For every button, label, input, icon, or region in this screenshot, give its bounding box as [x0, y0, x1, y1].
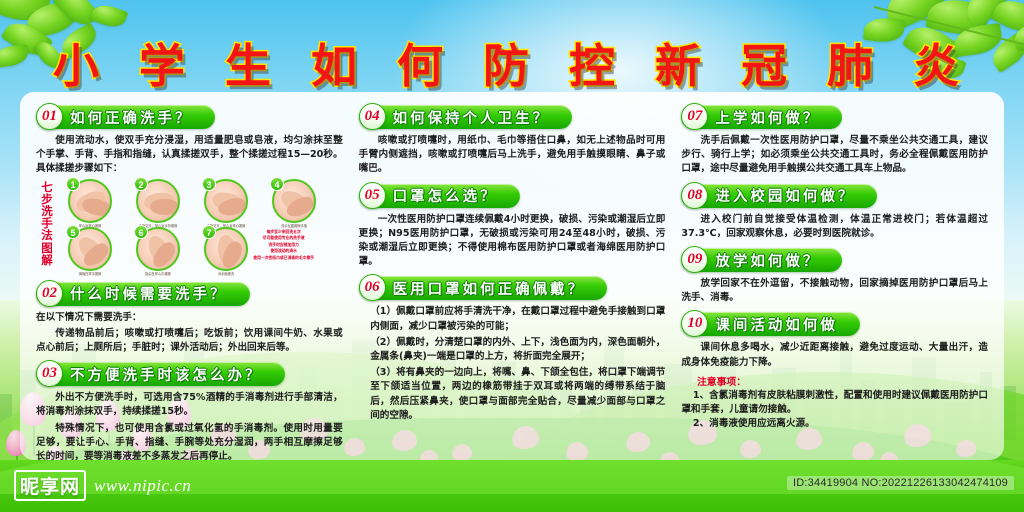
content-panel: 如何正确洗手？01使用流动水，使双手充分浸湿，用适量肥皂或皂液，均匀涂抹至整个手… — [20, 92, 1004, 460]
handwash-step-5: 5拇指在掌中搓擦 — [58, 227, 122, 275]
section-paragraph: 进入校门前自觉接受体温检测，体温正常进校门；若体温超过37.3℃，回家观察休息，… — [681, 213, 988, 241]
section-paragraph: 洗手后佩戴一次性医用防护口罩，尽量不乘坐公共交通工具，建议步行、骑行上学；如必须… — [681, 134, 988, 177]
handwash-step-6: 6指尖在掌心中搓擦 — [126, 227, 190, 275]
hand-shape — [150, 198, 178, 214]
section-heading-text: 什么时候需要洗手？ — [70, 283, 228, 304]
handwash-step-number: 5 — [66, 225, 80, 239]
notice-item: 1、含氯消毒剂有皮肤粘膜刺激性，配置和使用时建议佩戴医用防护口罩和手套，儿童请勿… — [681, 389, 988, 417]
section-pill: 医用口罩如何正确佩戴？ — [359, 276, 608, 300]
section-paragraph: 外出不方便洗手时，可选用含75%酒精的手消毒剂进行手部清洁，将消毒剂涂抹双手，持… — [36, 391, 343, 419]
section-heading-text: 进入校园如何做？ — [715, 185, 855, 206]
section-paragraph: 在以下情况下需要洗手： — [36, 311, 343, 325]
handwash-diagram-label: 七步洗手法图解 — [36, 179, 58, 275]
section-paragraph: 咳嗽或打喷嚏时，用纸巾、毛巾等捂住口鼻，如无上述物品时可用手臂内侧遮挡，咳嗽或打… — [359, 134, 666, 177]
section-heading-text: 如何正确洗手？ — [70, 107, 193, 128]
handwash-steps-grid: 1掌心对掌心搓擦2手指交叉，掌心对手背搓擦3手指交叉，掌心对掌心搓擦4双手互握搓… — [58, 179, 343, 275]
section-pill: 什么时候需要洗手？ — [36, 282, 250, 306]
brand: 昵享网 www.nipic.cn — [14, 470, 191, 501]
section-header-01[interactable]: 如何正确洗手？01 — [36, 104, 343, 130]
content-column-3: 上学如何做？07洗手后佩戴一次性医用防护口罩，尽量不乘坐公共交通工具，建议步行、… — [673, 98, 996, 460]
section-header-03[interactable]: 不方便洗手时该怎么办？03 — [36, 361, 343, 387]
section-paragraph: 使用流动水，使双手充分浸湿，用适量肥皂或皂液，均匀涂抹至整个手掌、手背、手指和指… — [36, 134, 343, 177]
section-number-badge: 08 — [681, 182, 708, 209]
handwash-step-2: 2手指交叉，掌心对手背搓擦 — [126, 179, 190, 227]
section-pill: 课间活动如何做 — [681, 312, 860, 336]
content-column-2: 如何保持个人卫生？04咳嗽或打喷嚏时，用纸巾、毛巾等捂住口鼻，如无上述物品时可用… — [351, 98, 674, 460]
handwash-step-caption: 对手腕搓洗 — [196, 272, 257, 276]
section-header-02[interactable]: 什么时候需要洗手？02 — [36, 281, 343, 307]
section-number-badge: 04 — [359, 103, 386, 130]
handwash-step-caption: 拇指在掌中搓擦 — [60, 272, 121, 276]
notice-title: 注意事项： — [681, 374, 988, 388]
section-pill: 进入校园如何做？ — [681, 184, 877, 208]
section-heading-text: 口罩怎么选？ — [393, 185, 498, 206]
section-paragraph: （2）佩戴时，分清楚口罩的内外、上下，浅色面为内，深色面朝外，金属条(鼻夹)一端… — [359, 336, 666, 364]
brand-url: www.nipic.cn — [94, 476, 191, 496]
section-pill: 不方便洗手时该怎么办？ — [36, 362, 285, 386]
handwash-step-number: 1 — [66, 177, 80, 191]
section-header-10[interactable]: 课间活动如何做10 — [681, 311, 988, 337]
brand-logo: 昵享网 — [14, 470, 86, 501]
handwash-note-line: 使用流动的清水 — [225, 248, 343, 255]
handwash-step-number: 3 — [202, 177, 216, 191]
section-heading-text: 放学如何做？ — [715, 250, 820, 271]
handwash-step-number: 2 — [134, 177, 148, 191]
section-paragraph: 一次性医用防护口罩连续佩戴4小时更换，破损、污染或潮湿后立即更换；N95医用防护… — [359, 213, 666, 270]
section-header-06[interactable]: 医用口罩如何正确佩戴？06 — [359, 275, 666, 301]
section-number-badge: 02 — [36, 280, 63, 307]
handwash-row: 1掌心对掌心搓擦2手指交叉，掌心对手背搓擦3手指交叉，掌心对掌心搓擦4双手互握搓… — [58, 179, 343, 227]
content-columns: 如何正确洗手？01使用流动水，使双手充分浸湿，用适量肥皂或皂液，均匀涂抹至整个手… — [20, 92, 1004, 460]
handwash-note-line: 尽可能使用专业的洗手液 — [225, 235, 343, 242]
section-header-04[interactable]: 如何保持个人卫生？04 — [359, 104, 666, 130]
section-paragraph: 课间休息多喝水，减少近距离接触，避免过度运动、大量出汗，造成身体免疫能力下降。 — [681, 341, 988, 369]
section-number-badge: 05 — [359, 182, 386, 209]
section-heading-text: 上学如何做？ — [715, 107, 820, 128]
section-pill: 如何保持个人卫生？ — [359, 105, 573, 129]
section-number-badge: 01 — [36, 103, 63, 130]
hand-shape — [80, 195, 111, 217]
section-heading-text: 课间活动如何做 — [715, 314, 838, 335]
poster-canvas: 小 学 生 如 何 防 控 新 冠 肺 炎 如何正确洗手？01使用流动水，使双手… — [0, 0, 1024, 512]
section-header-05[interactable]: 口罩怎么选？05 — [359, 183, 666, 209]
section-heading-text: 医用口罩如何正确佩戴？ — [393, 278, 586, 299]
section-heading-text: 不方便洗手时该怎么办？ — [70, 364, 263, 385]
handwash-step-caption: 指尖在掌心中搓擦 — [128, 272, 189, 276]
section-header-07[interactable]: 上学如何做？07 — [681, 104, 988, 130]
notice-item: 2、消毒液使用应远离火源。 — [681, 417, 988, 431]
page-title: 小 学 生 如 何 防 控 新 冠 肺 炎 — [0, 30, 1024, 96]
handwash-note-line: 每步至少来回洗五次 — [225, 229, 343, 236]
handwash-step-number: 7 — [202, 225, 216, 239]
section-paragraph: 传递物品前后；咳嗽或打喷嚏后；吃饭前；饮用课间牛奶、水果或点心前后；上厕所后；手… — [36, 327, 343, 355]
image-id-code: ID:34419904 NO:20221226133042474109 — [787, 476, 1014, 490]
handwash-diagram: 七步洗手法图解1掌心对掌心搓擦2手指交叉，掌心对手背搓擦3手指交叉，掌心对掌心搓… — [36, 179, 343, 275]
handwash-step-3: 3手指交叉，掌心对掌心搓擦 — [194, 179, 258, 227]
handwash-step-number: 4 — [270, 177, 284, 191]
section-number-badge: 06 — [359, 274, 386, 301]
section-header-09[interactable]: 放学如何做？09 — [681, 247, 988, 273]
section-heading-text: 如何保持个人卫生？ — [393, 107, 551, 128]
handwash-step-number: 6 — [134, 225, 148, 239]
footer-bar: 昵享网 www.nipic.cn ID:34419904 NO:20221226… — [0, 460, 1024, 512]
content-column-1: 如何正确洗手？01使用流动水，使双手充分浸湿，用适量肥皂或皂液，均匀涂抹至整个手… — [28, 98, 351, 460]
handwash-notes: 每步至少来回洗五次尽可能使用专业的洗手液洗手时应稍加用力使用流动的清水使用一次性… — [225, 229, 343, 262]
section-header-08[interactable]: 进入校园如何做？08 — [681, 183, 988, 209]
handwash-step-caption: 双手互握搓擦手指 — [264, 224, 325, 228]
handwash-step-1: 1掌心对掌心搓擦 — [58, 179, 122, 227]
section-paragraph: 特殊情况下，也可使用含氯或过氧化氢的手消毒剂。使用时用量要足够，要让手心、手背、… — [36, 422, 343, 465]
section-paragraph: （1）佩戴口罩前应将手清洗干净，在戴口罩过程中避免手接触到口罩内侧面，减少口罩被… — [359, 305, 666, 333]
handwash-note-line: 使用一次性纸巾或已消毒的毛巾擦手 — [225, 255, 343, 262]
handwash-note-line: 洗手时应稍加用力 — [225, 242, 343, 249]
section-paragraph: （3）将有鼻夹的一边向上，将嘴、鼻、下颌全包住，将口罩下端调节至下颌适当位置，两… — [359, 366, 666, 423]
handwash-step-4: 4双手互握搓擦手指 — [262, 179, 326, 227]
section-paragraph: 放学回家不在外逗留，不接触动物，回家摘掉医用防护口罩后马上洗手、消毒。 — [681, 277, 988, 305]
